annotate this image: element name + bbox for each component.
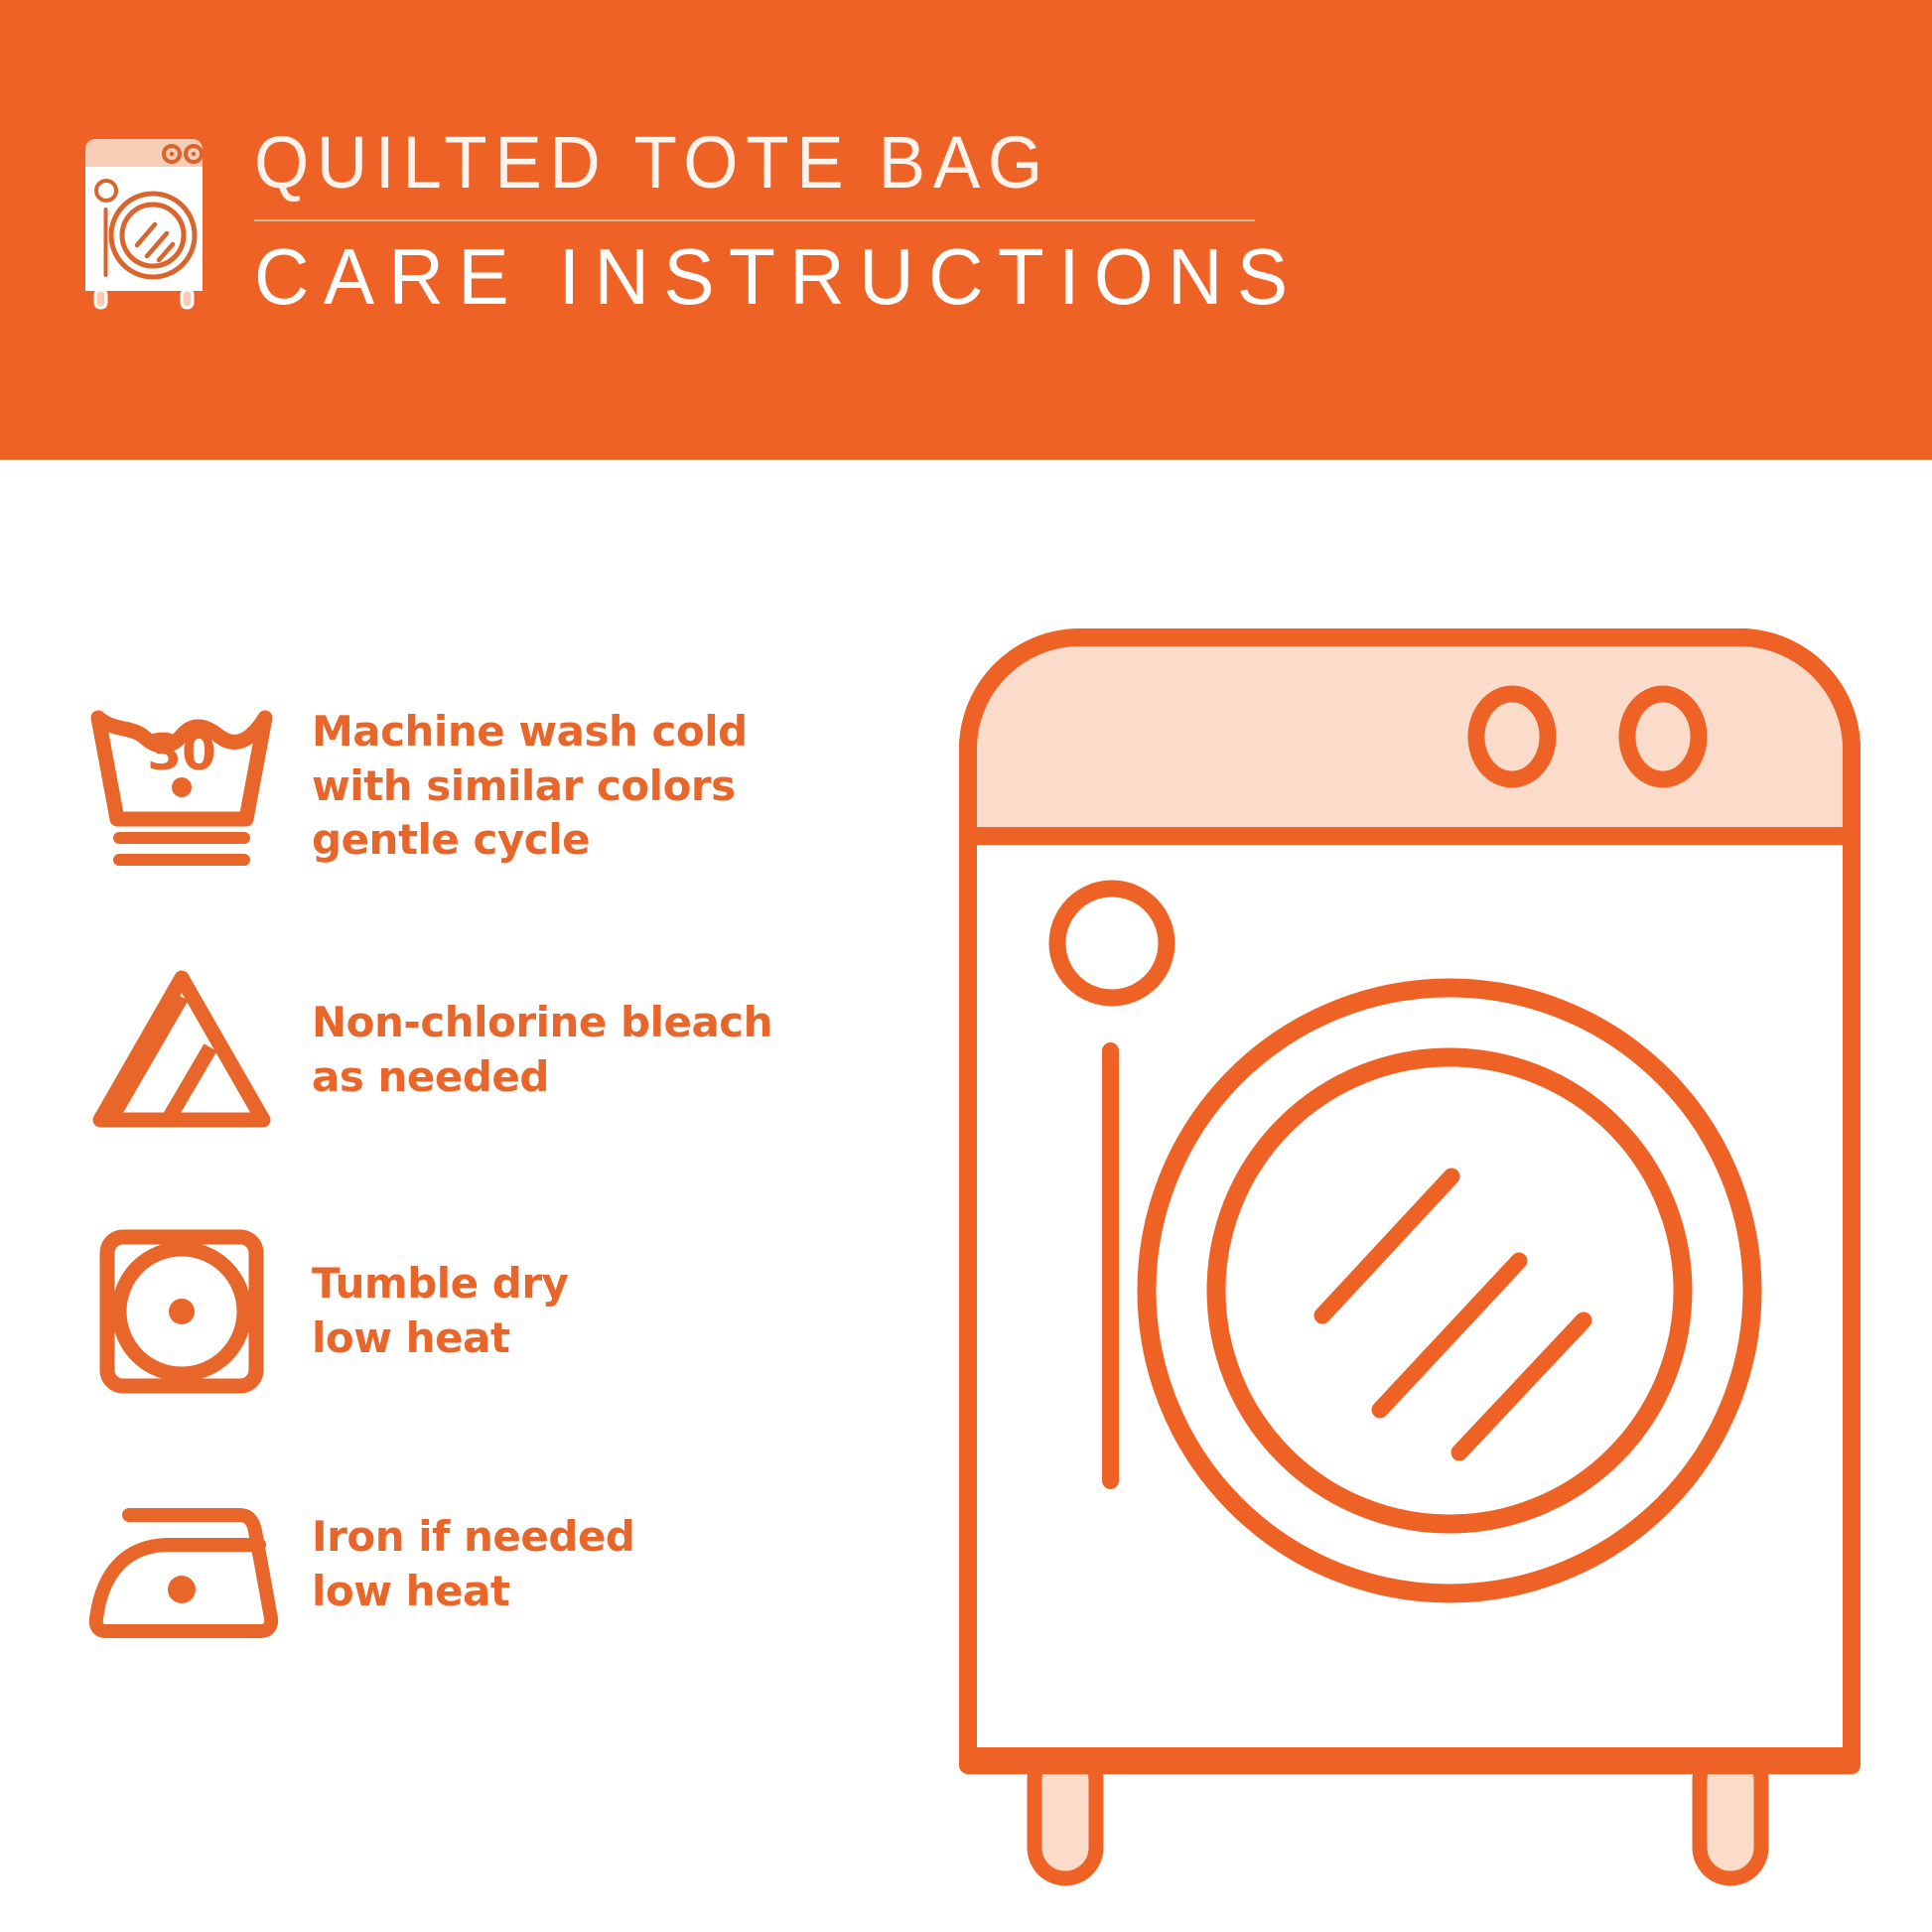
care-row-iron: Iron if needed low heat [77,1455,892,1674]
detergent-slot [1102,1042,1119,1489]
care-line: as needed [312,1050,772,1105]
care-line: Machine wash cold [312,705,748,759]
low-heat-dot-icon [169,1299,195,1324]
header-content: QUILTED TOTE BAG CARE INSTRUCTIONS [77,127,1287,317]
care-line: gentle cycle [312,813,748,868]
page-title: QUILTED TOTE BAG [254,127,1245,200]
tumble-dry-icon-wrap [77,1212,286,1411]
care-line: Tumble dry [312,1257,568,1311]
washing-machine-illustration [953,616,1866,1906]
care-row-tumble-dry: Tumble dry low heat [77,1194,892,1428]
page-subtitle: CARE INSTRUCTIONS [254,237,1245,317]
non-chlorine-bleach-triangle-icon [82,963,281,1137]
care-instructions-list: 30 Machine wash cold with similar colors… [77,667,892,1674]
care-line: Non-chlorine bleach [312,996,772,1050]
washing-machine-icon [77,133,216,317]
care-row-machine-wash: 30 Machine wash cold with similar colors… [77,667,892,905]
control-panel [968,637,1852,836]
low-heat-dot-icon [168,1576,196,1603]
header-title-group: QUILTED TOTE BAG CARE INSTRUCTIONS [254,127,1287,317]
header-banner: QUILTED TOTE BAG CARE INSTRUCTIONS [0,0,1932,460]
iron-low-heat-icon [82,1485,281,1644]
knob-right[interactable] [1627,694,1699,779]
tumble-dry-low-icon [92,1222,271,1401]
title-divider [254,219,1255,221]
gentle-dot-icon [172,777,192,797]
care-label-iron: Iron if needed low heat [312,1510,635,1618]
care-line: low heat [312,1565,635,1619]
knob-left[interactable] [1476,694,1548,779]
care-line: with similar colors [312,759,748,814]
wash-tub-30-gentle-icon: 30 [82,692,281,881]
care-label-machine-wash: Machine wash cold with similar colors ge… [312,705,748,868]
wash-tub-icon-wrap: 30 [77,687,286,886]
washer-base [968,1747,1852,1765]
care-line: low heat [312,1311,568,1366]
wash-temperature-label: 30 [147,724,216,781]
care-label-bleach: Non-chlorine bleach as needed [312,996,772,1104]
bleach-icon-wrap [77,951,286,1150]
care-row-bleach: Non-chlorine bleach as needed [77,933,892,1167]
iron-icon-wrap [77,1465,286,1664]
care-line: Iron if needed [312,1510,635,1565]
care-label-tumble-dry: Tumble dry low heat [312,1257,568,1365]
